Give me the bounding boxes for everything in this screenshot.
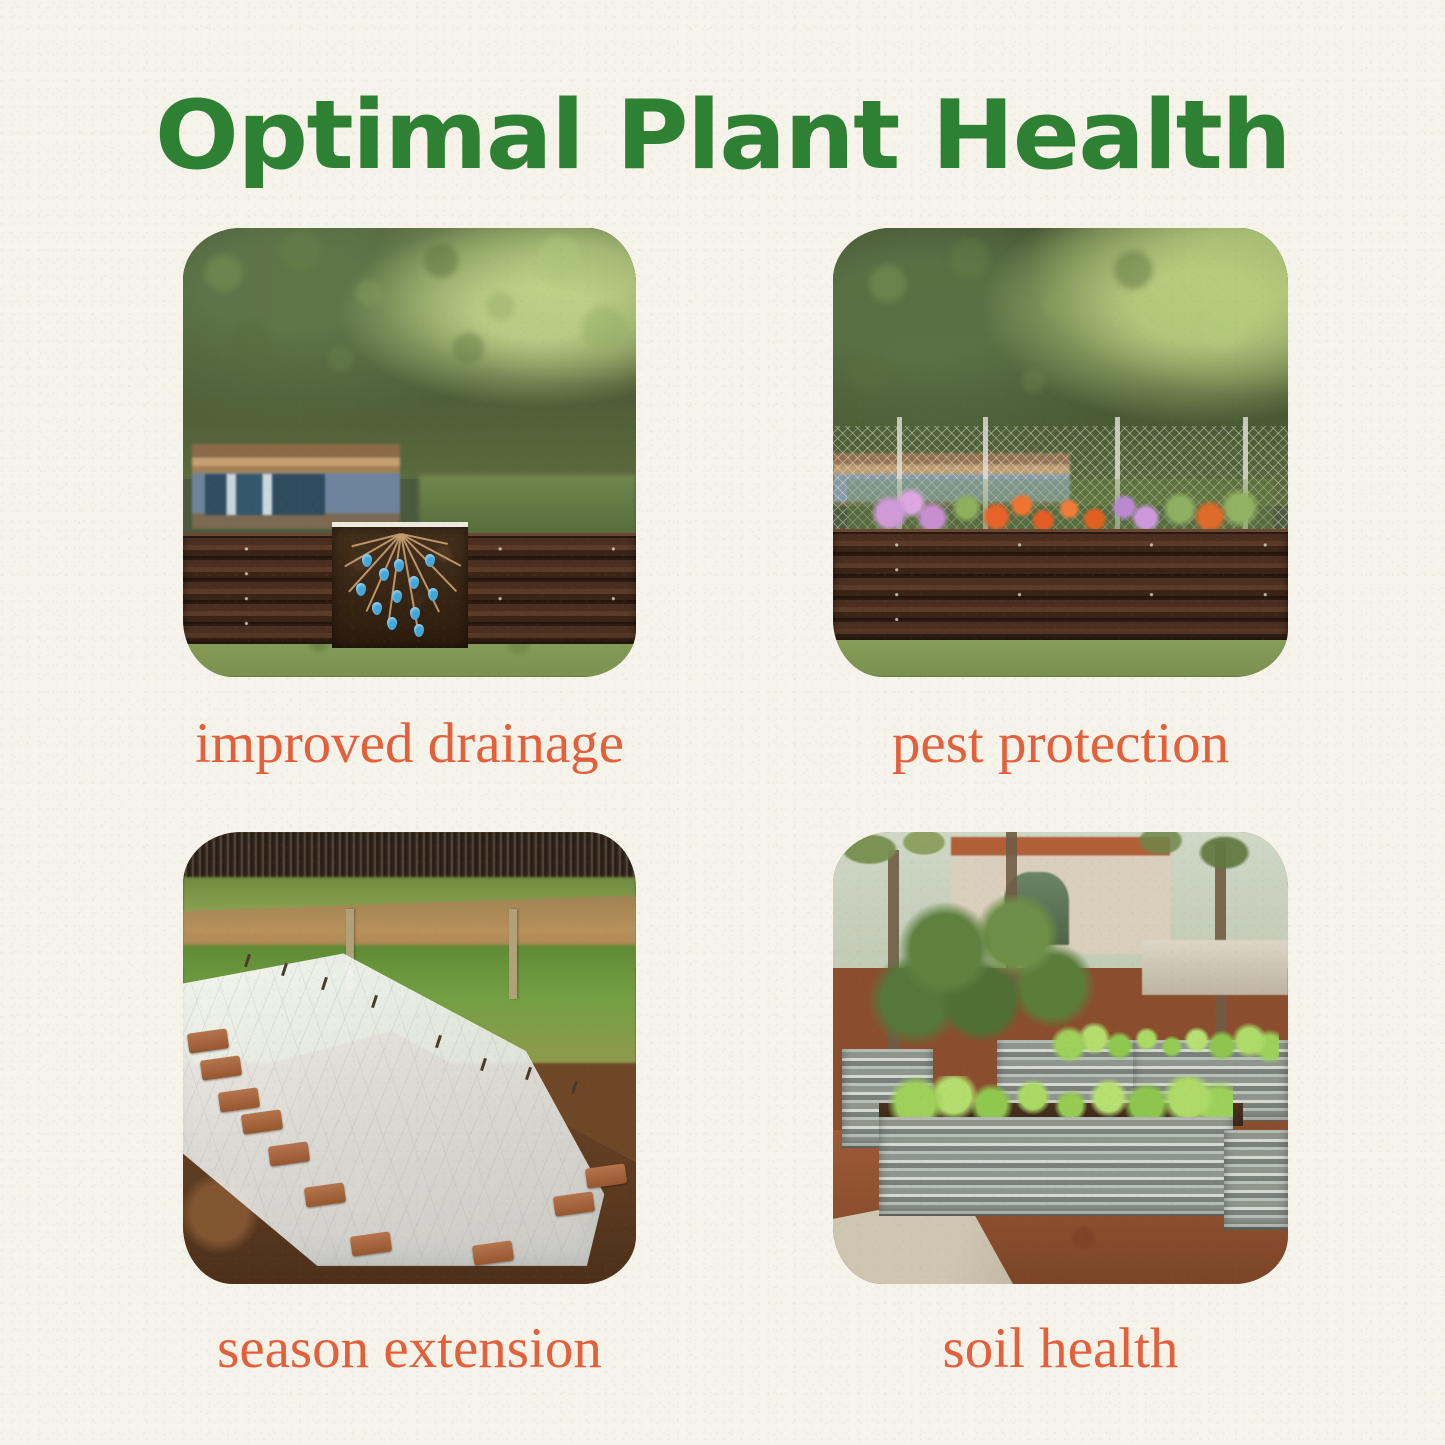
water-droplet	[356, 583, 366, 596]
photo-improved-drainage	[183, 228, 636, 677]
water-droplet	[394, 559, 404, 572]
water-droplet	[379, 568, 389, 581]
photo-pest-protection	[833, 228, 1288, 677]
benefit-card-grid: improved drainage pest protection	[0, 0, 1445, 1445]
galvanized-raised-bed-right-corner	[1224, 1130, 1288, 1229]
card-caption-improved-drainage: improved drainage	[183, 713, 636, 775]
water-droplet	[428, 588, 438, 601]
bed-rivets	[833, 532, 1288, 640]
card-caption-pest-protection: pest protection	[833, 713, 1288, 775]
tree-foliage	[183, 228, 636, 479]
water-droplet	[372, 602, 382, 615]
card-caption-soil-health: soil health	[833, 1318, 1288, 1380]
photo-soil-health	[833, 832, 1288, 1284]
cover-clip	[571, 1080, 578, 1093]
photo-season-extension	[183, 832, 636, 1284]
background-house	[192, 444, 400, 529]
water-droplet	[392, 590, 402, 603]
card-caption-season-extension: season extension	[183, 1318, 636, 1380]
bare-winter-treeline	[183, 832, 636, 882]
benefit-card-pest-protection[interactable]: pest protection	[833, 228, 1288, 775]
infographic-page: Optimal Plant Health	[0, 0, 1445, 1445]
water-droplet	[409, 576, 419, 589]
water-droplet	[414, 624, 424, 637]
fence-post	[509, 909, 517, 999]
water-droplet	[425, 554, 435, 567]
benefit-card-season-extension[interactable]: season extension	[183, 832, 636, 1380]
galvanized-raised-bed-front	[879, 1117, 1234, 1216]
water-droplet	[410, 607, 420, 620]
water-droplet	[387, 617, 397, 630]
benefit-card-improved-drainage[interactable]: improved drainage	[183, 228, 636, 775]
brown-raised-bed	[833, 529, 1288, 640]
garden-wall	[1142, 940, 1288, 994]
soil-cutaway-cross-section	[332, 522, 468, 648]
benefit-card-soil-health[interactable]: soil health	[833, 832, 1288, 1380]
lettuce-row-back	[1051, 1022, 1279, 1063]
